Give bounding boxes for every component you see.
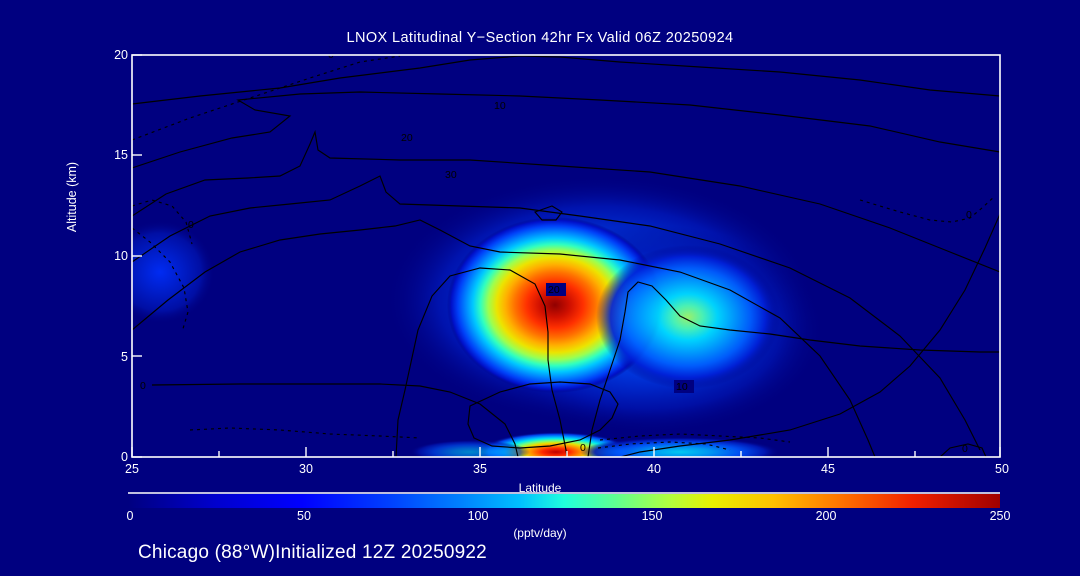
contour-label: 30 [445, 169, 457, 181]
contour-label: 0 [966, 209, 972, 221]
contour-label: 0 [188, 219, 194, 231]
contour-label: 0 [580, 442, 586, 454]
field-surface-band-right [580, 437, 780, 467]
contour-label: 0 [962, 443, 968, 455]
footer-caption: Chicago (88°W)Initialized 12Z 20250922 [138, 542, 487, 564]
contour-label: 20 [401, 132, 413, 144]
colorbar [128, 494, 1000, 508]
field-surface-band-left [410, 440, 530, 464]
field-left-edge-plume [105, 220, 215, 324]
figure-canvas: LNOX Latitudinal Y−Section 42hr Fx Valid… [0, 0, 1080, 576]
contour-label: 20 [548, 284, 560, 296]
contour-label: 10 [676, 381, 688, 393]
contour-label: 0 [140, 380, 146, 392]
contour-label: 10 [494, 100, 506, 112]
contour-plot: 0 10 20 30 20 10 0 0 0 0 0 [0, 0, 1080, 576]
